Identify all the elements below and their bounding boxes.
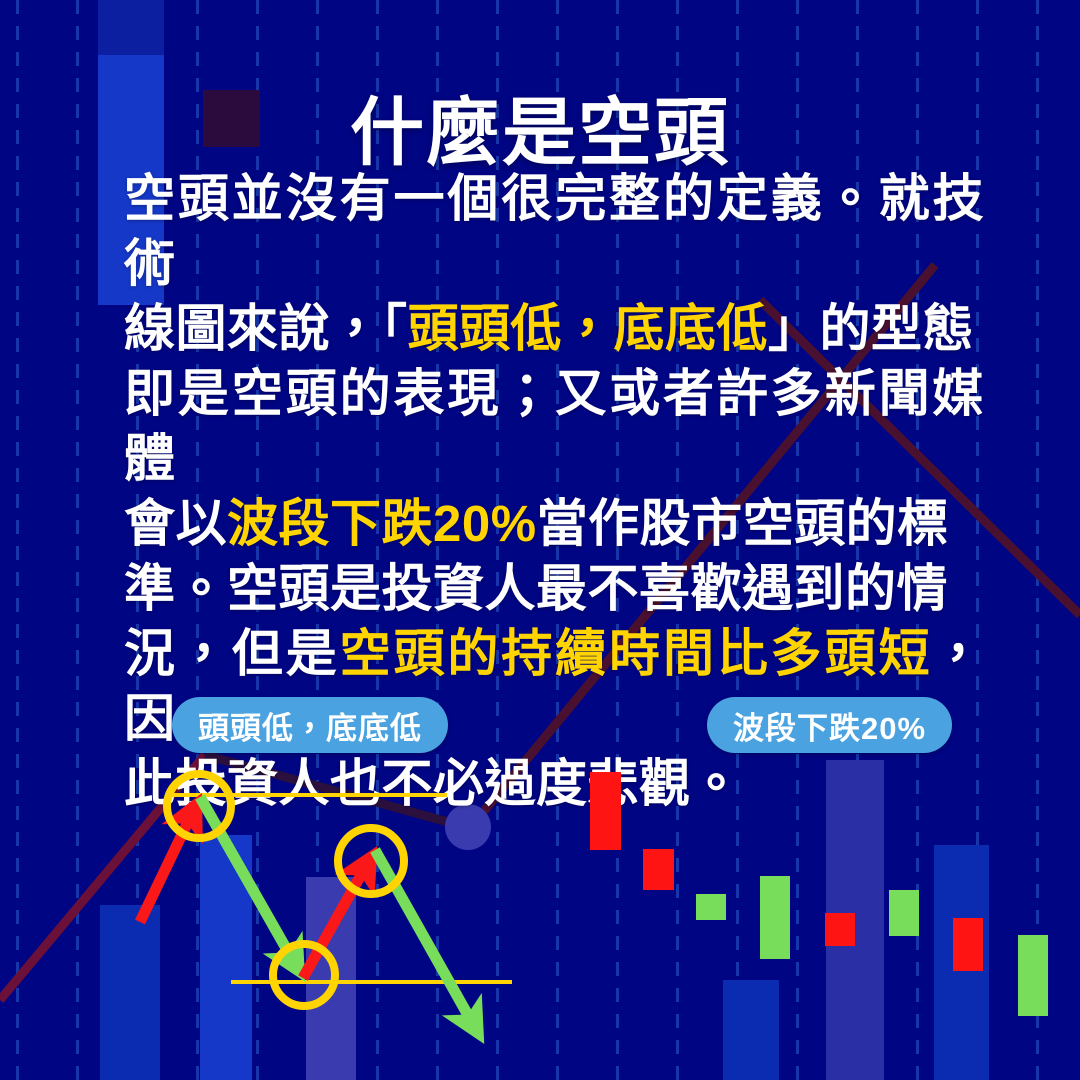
trend-arrow-down-1	[200, 797, 295, 964]
chart-lower-highs-lower-lows	[0, 0, 1080, 1080]
trend-arrow-down-3	[375, 850, 474, 1026]
trend-arrow-up-0	[140, 811, 193, 922]
marker-circle-頭2	[338, 828, 404, 894]
infographic-poster: 什麼是空頭 空頭並沒有一個很完整的定義。就技術線圖來說，「頭頭低，底底低」的型態…	[0, 0, 1080, 1080]
